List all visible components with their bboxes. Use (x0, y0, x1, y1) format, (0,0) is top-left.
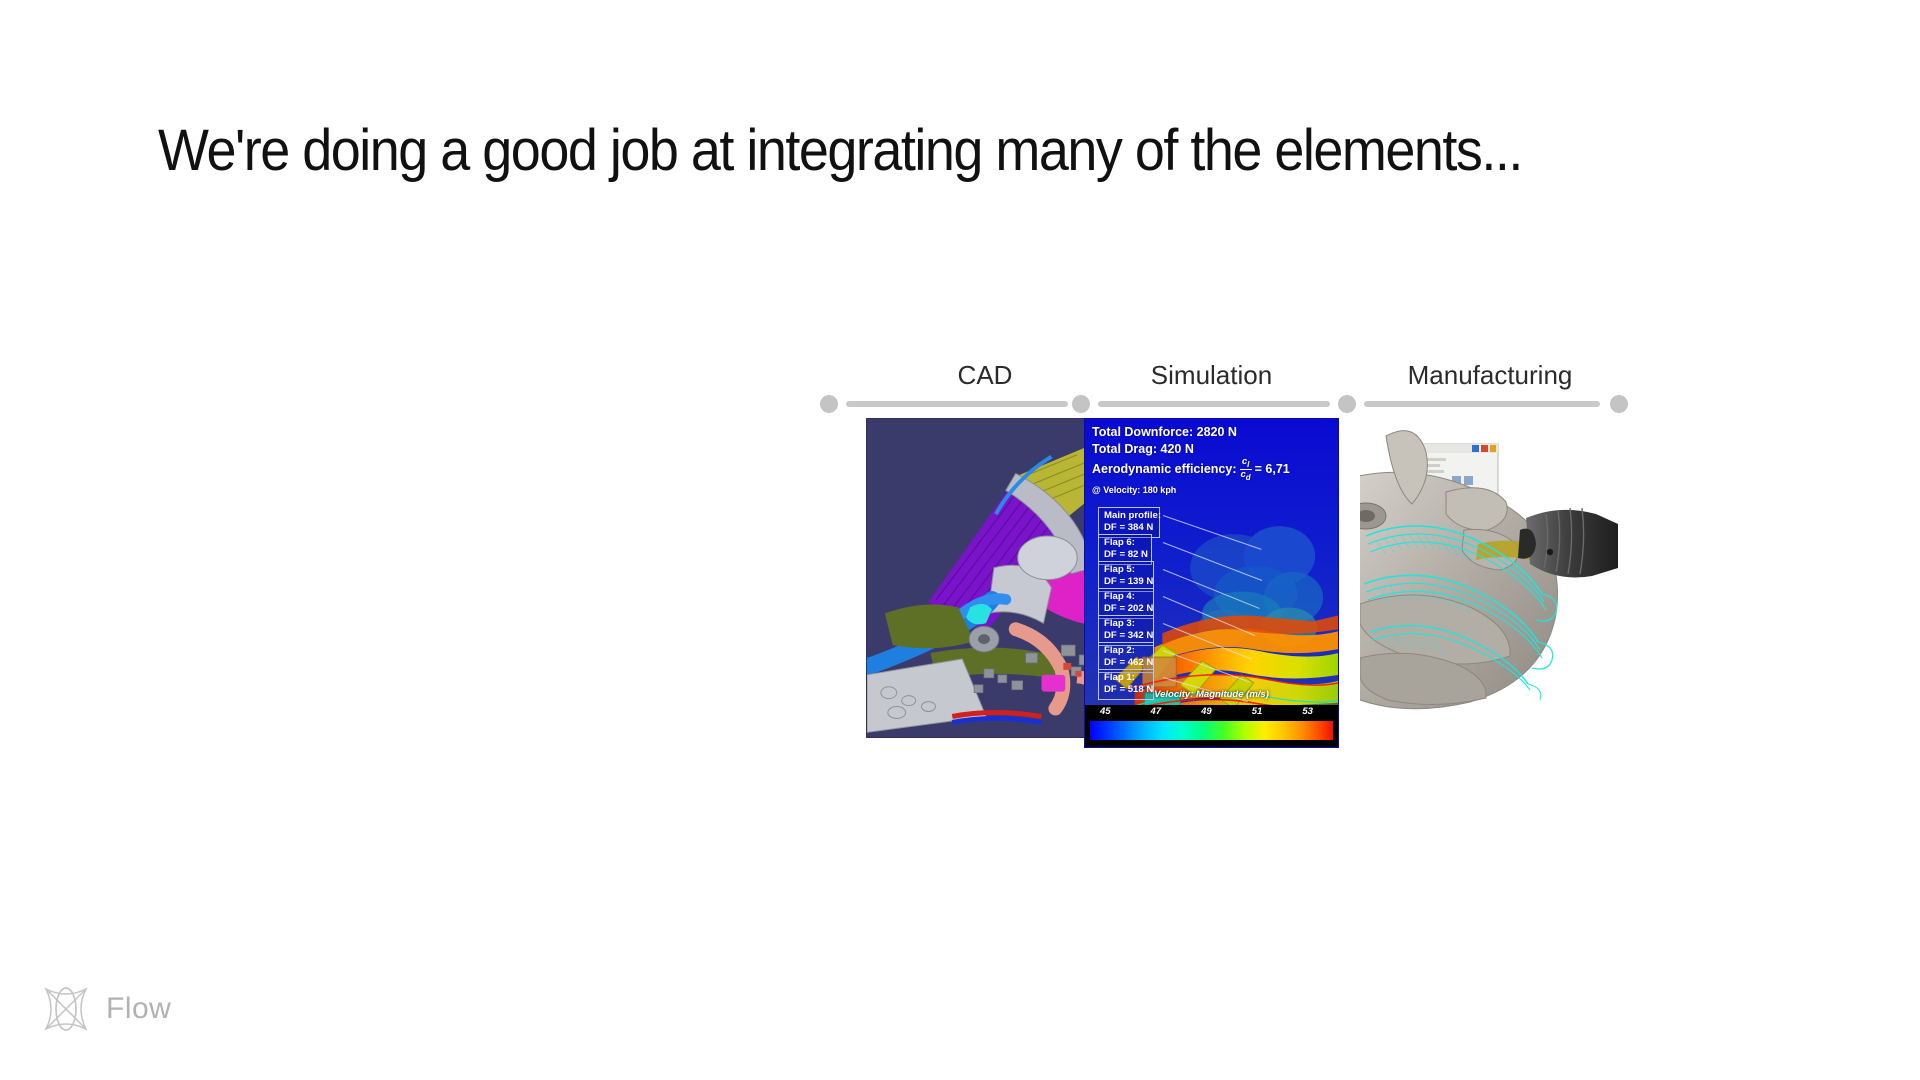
element-callout-flap6: Flap 6: DF = 82 N (1098, 534, 1152, 565)
element-name-flap4: Flap 4: (1104, 591, 1149, 603)
element-callout-main: Main profile: DF = 384 N (1098, 507, 1160, 538)
velocity-tick-45: 45 (1100, 706, 1111, 717)
velocity-tick-47: 47 (1151, 706, 1162, 717)
timeline-segment-manufacturing (1364, 401, 1600, 407)
velocity-tick-53: 53 (1302, 706, 1313, 717)
timeline-dot-cad-sim (1072, 395, 1090, 413)
velocity-note: @ Velocity: 180 kph (1092, 485, 1290, 497)
velocity-legend: Velocity: Magnitude (m/s) 45 47 49 51 53 (1085, 705, 1338, 747)
stage-label-simulation: Simulation (1084, 360, 1339, 391)
simulation-image: Total Downforce: 2820 N Total Drag: 420 … (1084, 418, 1339, 748)
flow-lens-logo-icon (40, 983, 92, 1035)
velocity-tick-49: 49 (1201, 706, 1212, 717)
cl-cd-fraction: cl cd (1240, 457, 1252, 482)
aerodynamic-efficiency-value: = 6,71 (1255, 461, 1290, 478)
simulation-readout: Total Downforce: 2820 N Total Drag: 420 … (1092, 424, 1290, 497)
aerodynamic-efficiency-label: Aerodynamic efficiency: (1092, 461, 1237, 478)
element-name-flap2: Flap 2: (1104, 645, 1149, 657)
element-callout-flap5: Flap 5: DF = 139 N (1098, 561, 1154, 592)
page-title: We're doing a good job at integrating ma… (158, 120, 1522, 183)
element-name-main: Main profile: (1104, 510, 1155, 522)
cnc-impeller-toolpath-graphic (1360, 418, 1620, 718)
footer-brand: Flow (40, 983, 171, 1035)
element-downforce-flap3: DF = 342 N (1104, 630, 1149, 642)
aerodynamic-efficiency-row: Aerodynamic efficiency: cl cd = 6,71 (1092, 457, 1290, 482)
pipeline-diagram: CAD Simulation Manufacturing (820, 360, 1660, 880)
brand-wordmark: Flow (106, 992, 171, 1026)
velocity-colorbar (1090, 721, 1333, 740)
element-name-flap5: Flap 5: (1104, 564, 1149, 576)
element-name-flap1: Flap 1: (1104, 672, 1149, 684)
timeline-dot-start (820, 395, 838, 413)
stage-label-cad: CAD (866, 360, 1104, 391)
manufacturing-image (1360, 418, 1620, 718)
cd-denominator: cd (1240, 470, 1252, 482)
velocity-legend-ticks: 45 47 49 51 53 (1085, 706, 1338, 719)
cad-assembly-graphic (867, 419, 1103, 736)
cad-image (866, 418, 1104, 738)
element-downforce-flap4: DF = 202 N (1104, 603, 1149, 615)
total-downforce-value: Total Downforce: 2820 N (1092, 424, 1290, 441)
element-name-flap6: Flap 6: (1104, 537, 1147, 549)
timeline-segment-cad (846, 401, 1068, 407)
element-callout-flap4: Flap 4: DF = 202 N (1098, 588, 1154, 619)
element-name-flap3: Flap 3: (1104, 618, 1149, 630)
element-callout-flap2: Flap 2: DF = 462 N (1098, 642, 1154, 673)
timeline-dot-end (1610, 395, 1628, 413)
element-downforce-flap6: DF = 82 N (1104, 549, 1147, 561)
stage-label-manufacturing: Manufacturing (1360, 360, 1620, 391)
velocity-tick-51: 51 (1252, 706, 1263, 717)
velocity-legend-title: Velocity: Magnitude (m/s) (1085, 689, 1338, 700)
element-callout-flap3: Flap 3: DF = 342 N (1098, 615, 1154, 646)
timeline-segment-simulation (1098, 401, 1330, 407)
total-drag-value: Total Drag: 420 N (1092, 441, 1290, 458)
element-downforce-flap2: DF = 462 N (1104, 657, 1149, 669)
element-downforce-flap5: DF = 139 N (1104, 576, 1149, 588)
element-downforce-main: DF = 384 N (1104, 522, 1155, 534)
timeline-dot-sim-mfg (1338, 395, 1356, 413)
